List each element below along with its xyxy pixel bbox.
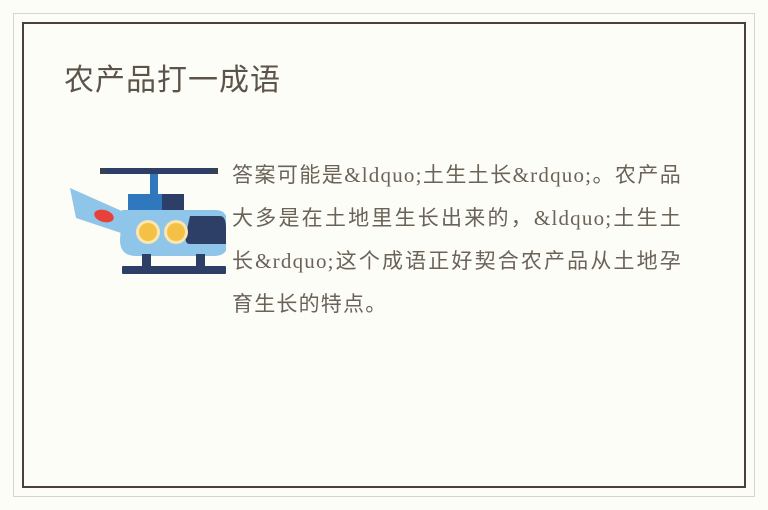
- page-title: 农产品打一成语: [64, 62, 710, 100]
- page-content: 农产品打一成语: [24, 24, 744, 486]
- article-body: 答案可能是&ldquo;土生土长&rdquo;。农产品大多是在土地里生长出来的，…: [58, 154, 710, 326]
- page-frame-inner: 农产品打一成语: [22, 22, 746, 488]
- helicopter-illustration: [58, 154, 226, 278]
- helicopter-icon: [66, 160, 226, 278]
- article-body-text: 答案可能是&ldquo;土生土长&rdquo;。农产品大多是在土地里生长出来的，…: [226, 154, 710, 326]
- page-frame-outer: 农产品打一成语: [13, 13, 755, 497]
